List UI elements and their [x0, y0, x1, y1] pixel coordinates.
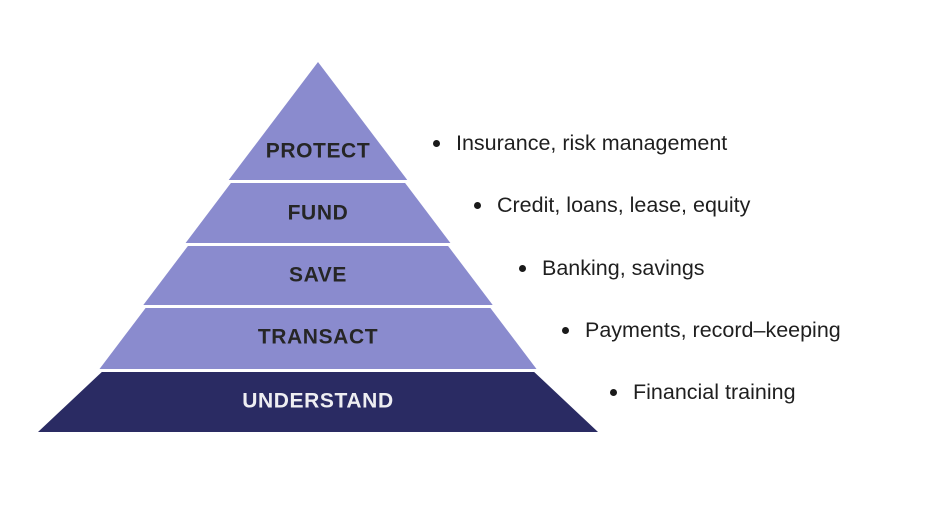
bullet-dot-icon [474, 202, 481, 209]
bullet-item-fund: Credit, loans, lease, equity [474, 194, 750, 218]
slide-canvas: PROTECT FUND SAVE TRANSACT UNDERSTAND In… [0, 0, 938, 519]
bullet-item-save: Banking, savings [519, 257, 705, 281]
bullet-item-transact: Payments, record–keeping [562, 319, 841, 343]
pyramid-tier-label-save: SAVE [289, 264, 347, 287]
bullet-item-understand: Financial training [610, 381, 796, 405]
bullet-dot-icon [519, 265, 526, 272]
pyramid-diagram: PROTECT FUND SAVE TRANSACT UNDERSTAND [0, 0, 938, 519]
bullet-label-fund: Credit, loans, lease, equity [497, 194, 750, 218]
bullet-label-save: Banking, savings [542, 257, 705, 281]
bullet-item-protect: Insurance, risk management [433, 132, 727, 156]
pyramid-tiers [38, 62, 598, 432]
pyramid-tier-label-fund: FUND [288, 202, 349, 225]
pyramid-tier-label-understand: UNDERSTAND [242, 390, 393, 413]
bullet-label-understand: Financial training [633, 381, 796, 405]
pyramid-tier-label-protect: PROTECT [266, 140, 371, 163]
bullet-dot-icon [562, 327, 569, 334]
bullet-label-transact: Payments, record–keeping [585, 319, 841, 343]
bullet-dot-icon [433, 140, 440, 147]
bullet-dot-icon [610, 389, 617, 396]
bullet-label-protect: Insurance, risk management [456, 132, 727, 156]
pyramid-tier-label-transact: TRANSACT [258, 326, 378, 349]
